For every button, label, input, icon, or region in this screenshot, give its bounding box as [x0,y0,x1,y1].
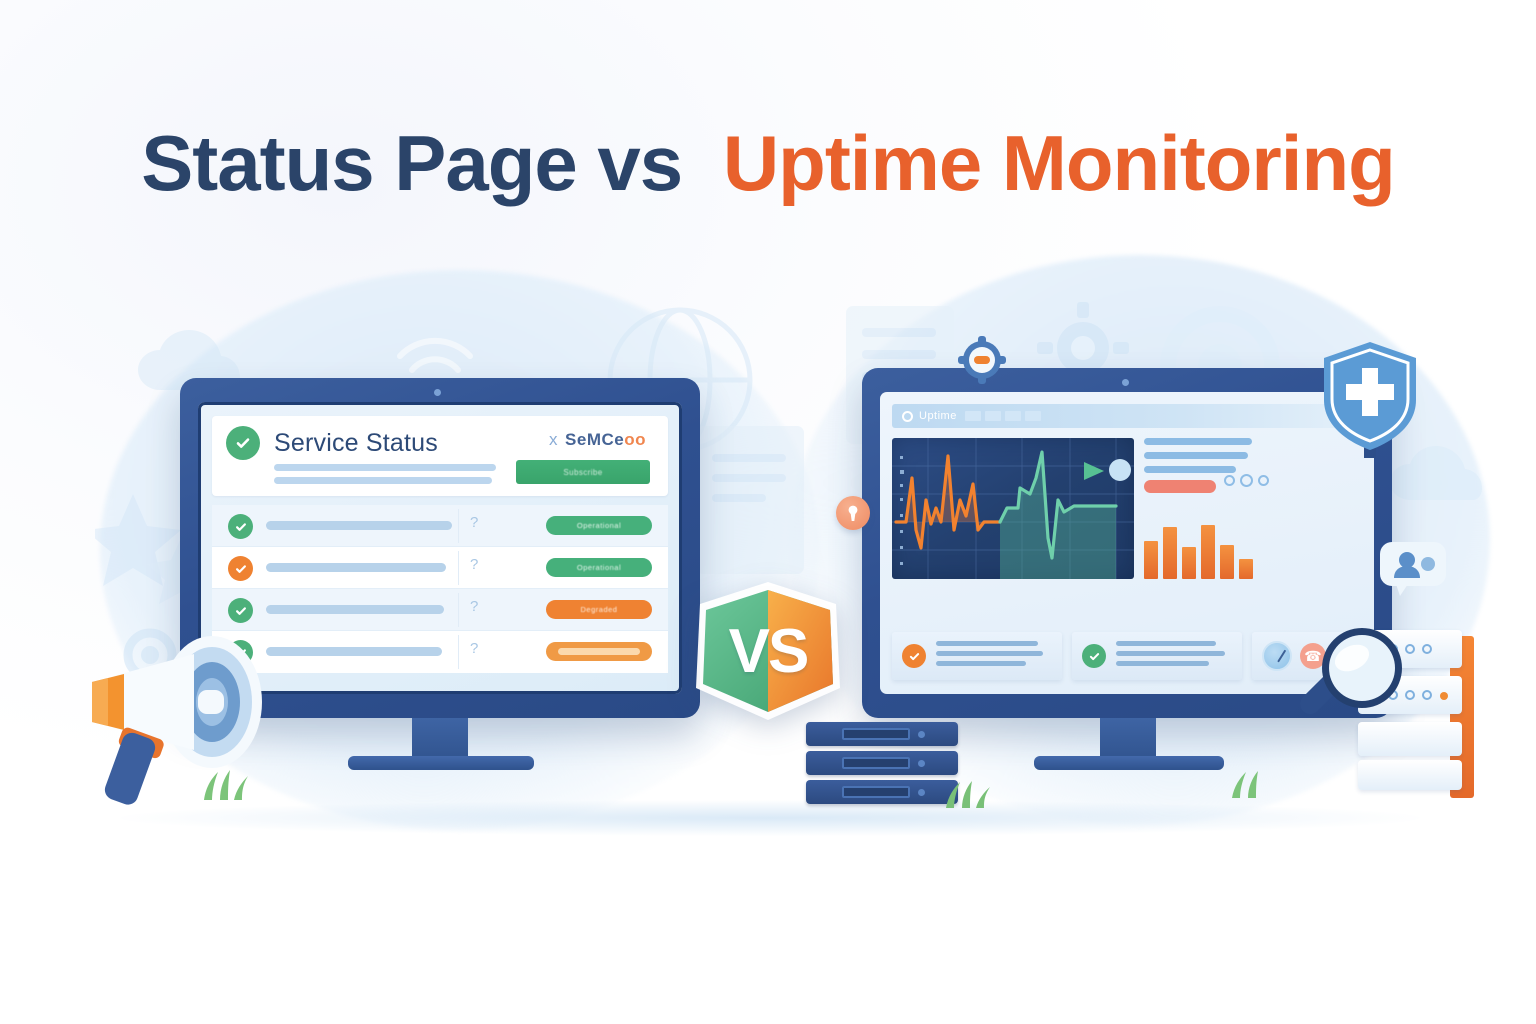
page-title: Status Page vs Uptime Monitoring [0,118,1536,209]
check-circle-green-icon [228,598,253,623]
column-divider [458,551,459,585]
chart-side-panel [1144,438,1254,579]
brand-logo: xSeMCeoo [549,430,646,450]
grass-icon [940,778,996,813]
title-part-uptime-monitoring: Uptime Monitoring [723,119,1395,207]
logo-x-mark: x [549,430,558,449]
vs-badge-label: VS [688,578,848,724]
column-divider [458,509,459,543]
card-placeholder-lines [1116,641,1232,671]
rack-unit [1358,760,1462,790]
dashboard-body [892,438,1362,579]
topbar-label: Uptime [919,410,957,422]
service-name-bar [266,521,452,530]
check-circle-green-icon [228,514,253,539]
lock-icon [836,496,870,530]
table-row[interactable]: ? Degraded [212,589,668,631]
service-name-bar [266,563,446,572]
grass-icon [196,766,256,805]
status-badge-inner-bar [558,648,640,655]
placeholder-bar [1144,466,1236,473]
topbar-placeholder-tabs [965,411,1041,421]
grass-icon [1226,768,1282,803]
monitor-neck [1100,718,1156,760]
illustration-canvas: Status Page vs Uptime Monitoring [0,0,1536,1024]
table-row[interactable]: ? Operational [212,505,668,547]
webcam-icon [1122,379,1129,386]
column-divider [458,593,459,627]
monitor-neck [412,718,468,760]
placeholder-bar [1144,438,1252,445]
subscribe-button[interactable]: Subscribe [516,460,650,484]
status-badge: Operational [546,516,652,535]
service-status-title: Service Status [274,429,438,458]
status-badge: Operational [546,558,652,577]
status-badge [546,642,652,661]
bar-chart [1144,517,1253,579]
check-circle-green-icon [1082,644,1106,668]
user-icon [1378,540,1448,598]
service-name-bar [266,605,444,614]
dashboard-topbar: Uptime [892,404,1362,428]
placeholder-bar [1144,452,1248,459]
magnifying-glass-icon [1290,618,1420,748]
gauge-icon [1262,641,1292,671]
stat-card-incidents[interactable] [892,632,1062,680]
circle-marker-icon [1109,459,1131,481]
placeholder-bar [274,464,496,471]
play-triangle-icon [1084,462,1104,480]
status-badge-label: Operational [577,563,621,572]
alert-bar [1144,480,1216,493]
card-placeholder-lines [936,641,1052,671]
vs-badge: VS [688,578,848,724]
metric-circles [1224,474,1269,487]
row-marker: ? [470,598,478,615]
webcam-icon [434,389,441,396]
status-dot-icon [902,411,913,422]
document-icon [690,420,810,580]
column-divider [458,635,459,669]
stat-card-checks[interactable] [1072,632,1242,680]
ground-shadow [120,800,1420,836]
check-circle-green-icon [226,426,260,460]
status-page-header: Service Status xSeMCeoo Subscribe [212,416,668,496]
logo-text: SeMCe [565,430,624,449]
chart-svg [892,438,1134,579]
rack-amber-led [1440,692,1448,700]
status-badge-label: Operational [577,521,621,530]
row-marker: ? [470,514,478,531]
megaphone-icon [62,630,312,810]
row-marker: ? [470,640,478,657]
status-badge-label: Degraded [581,605,618,614]
status-badge: Degraded [546,600,652,619]
table-row[interactable]: ? Operational [212,547,668,589]
check-circle-orange-icon [228,556,253,581]
check-circle-orange-icon [902,644,926,668]
monitor-base [348,756,534,770]
monitor-base [1034,756,1224,770]
gear-icon [958,336,1006,384]
subscribe-button-label: Subscribe [563,468,602,477]
logo-suffix: oo [624,430,646,449]
title-part-status-page: Status Page vs [141,119,682,207]
chart-y-ticks [900,456,904,565]
placeholder-bar [274,477,492,484]
row-marker: ? [470,556,478,573]
shield-cross-icon [1318,338,1422,458]
response-time-chart [892,438,1134,579]
